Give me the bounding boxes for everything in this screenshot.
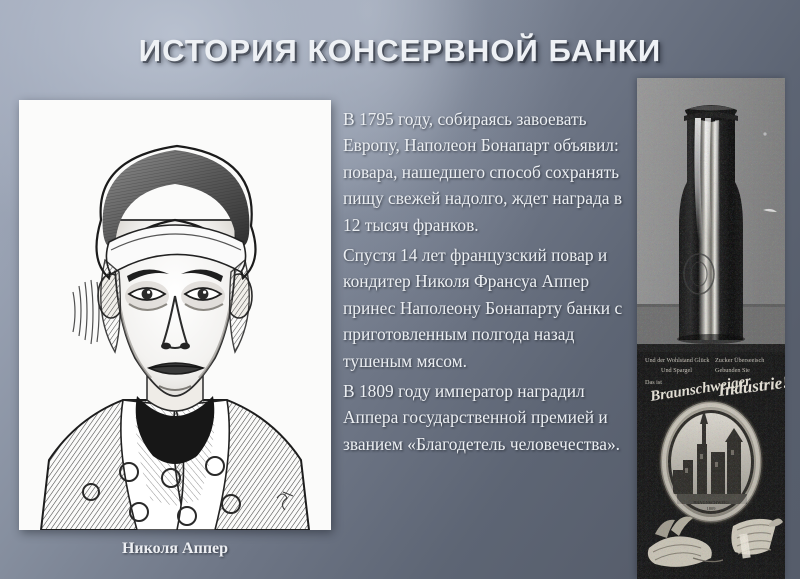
antique-preserving-bottle-photo	[637, 78, 785, 344]
right-photo-strip: Und der Wohlstand Glück Zucker Überseeis…	[637, 78, 785, 579]
braunschweiger-industrie-poster: Und der Wohlstand Glück Zucker Überseeis…	[637, 344, 785, 579]
portrait-nicolas-appert-image	[19, 100, 331, 530]
slide-body-text: В 1795 году, собираясь завоевать Европу,…	[343, 106, 631, 461]
slide-title-bar: ИСТОРИЯ КОНСЕРВНОЙ БАНКИ	[0, 24, 800, 78]
body-paragraph-3: В 1809 году император наградил Аппера го…	[343, 378, 631, 457]
portrait-card	[19, 100, 331, 530]
body-paragraph-1: В 1795 году, собираясь завоевать Европу,…	[343, 106, 631, 238]
portrait-caption: Николя Аппер	[19, 540, 331, 558]
page-title: ИСТОРИЯ КОНСЕРВНОЙ БАНКИ	[139, 33, 661, 69]
body-paragraph-2: Спустя 14 лет французский повар и кондит…	[343, 242, 631, 374]
presentation-slide: ИСТОРИЯ КОНСЕРВНОЙ БАНКИ	[0, 0, 800, 579]
